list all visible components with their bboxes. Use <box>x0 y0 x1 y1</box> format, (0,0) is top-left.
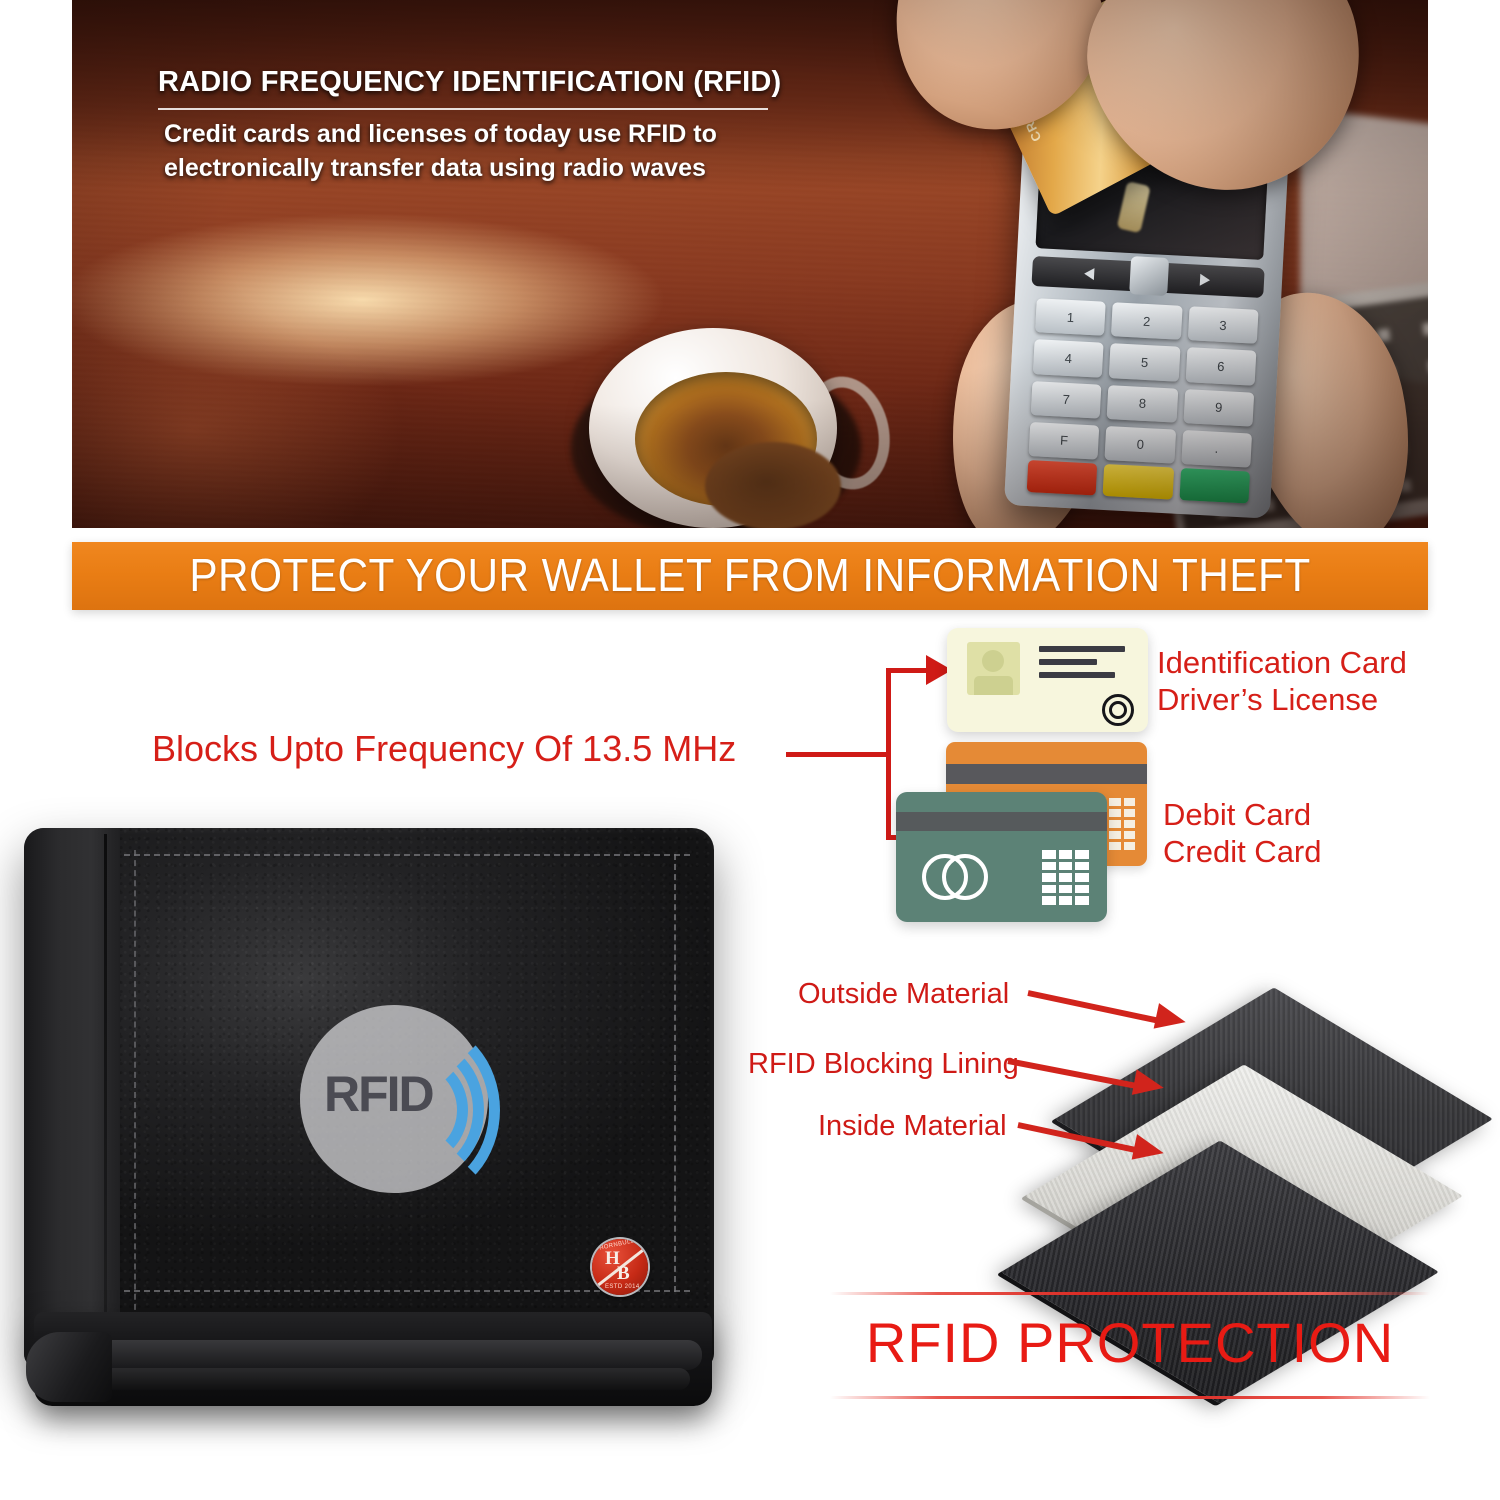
wallet-inner-lip <box>42 1340 702 1370</box>
identification-card-graphic <box>947 628 1148 732</box>
wallet-stitching-spine <box>134 850 136 1330</box>
id-label-line-2: Driver’s License <box>1157 682 1407 719</box>
radio-wave-icon-outer <box>344 1021 500 1199</box>
layer-label-inside: Inside Material <box>818 1110 1007 1143</box>
footer-rule-bottom <box>830 1396 1430 1399</box>
id-photo-head <box>982 650 1004 672</box>
wallet-inner-lip-lower <box>50 1368 690 1390</box>
rfid-protection-footer: RFID PROTECTION <box>830 1292 1430 1404</box>
arrow-head-icon <box>1154 1003 1189 1035</box>
bracket-branch-top <box>886 668 930 673</box>
wallet-fold-crease <box>104 834 107 1354</box>
wallet-left-fold-curl <box>26 1332 112 1402</box>
magnetic-stripe <box>896 812 1107 831</box>
logo-bottom-text: ESTD 2014 <box>605 1284 640 1290</box>
banner-text: PROTECT YOUR WALLET FROM INFORMATION THE… <box>126 548 1374 602</box>
layer-label-outside: Outside Material <box>798 978 1009 1011</box>
payment-label-line-1: Debit Card <box>1163 797 1322 834</box>
id-text-line <box>1039 646 1125 652</box>
bracket-stem <box>786 752 890 757</box>
hero-divider <box>158 108 768 110</box>
protect-wallet-banner: PROTECT YOUR WALLET FROM INFORMATION THE… <box>72 542 1428 610</box>
id-photo-placeholder <box>967 642 1020 695</box>
debit-card-graphic <box>896 792 1107 922</box>
hero-title: RADIO FREQUENCY IDENTIFICATION (RFID) <box>158 66 798 99</box>
wallet-stitching-right <box>674 854 676 1292</box>
rfid-chip-icon <box>1102 694 1134 726</box>
card-logo-ring-icon <box>942 854 988 900</box>
payment-label-line-2: Credit Card <box>1163 834 1322 871</box>
bracket-vertical <box>886 668 891 840</box>
hero-subtitle: Credit cards and licenses of today use R… <box>164 118 784 186</box>
hornbull-brand-logo: HORNBULL H B ESTD 2014 <box>592 1239 648 1295</box>
id-text-line <box>1039 659 1097 665</box>
arrow-shaft <box>1007 1058 1142 1090</box>
footer-text: RFID PROTECTION <box>830 1310 1430 1375</box>
footer-rule-top <box>830 1292 1430 1295</box>
hero-photo: 1 2 3 4 5 6 7 8 9 F 0 . 8888 8888 8888 8… <box>72 0 1428 528</box>
logo-monogram-b: B <box>617 1263 630 1285</box>
card-chip-grid <box>1042 850 1089 905</box>
identification-card-label: Identification Card Driver’s License <box>1157 645 1407 718</box>
wallet-stitching-top <box>124 854 690 856</box>
layer-label-rfid-lining: RFID Blocking Lining <box>748 1048 1019 1081</box>
arrow-head-icon <box>1132 1069 1166 1100</box>
id-text-line <box>1039 672 1115 678</box>
payment-card-label: Debit Card Credit Card <box>1163 797 1322 870</box>
frequency-label: Blocks Upto Frequency Of 13.5 MHz <box>152 728 736 770</box>
rfid-badge-overlay: RFID <box>300 1005 488 1193</box>
id-photo-body <box>974 676 1013 695</box>
arrow-shaft <box>1027 990 1163 1025</box>
id-label-line-1: Identification Card <box>1157 645 1407 682</box>
magnetic-stripe <box>946 764 1147 784</box>
